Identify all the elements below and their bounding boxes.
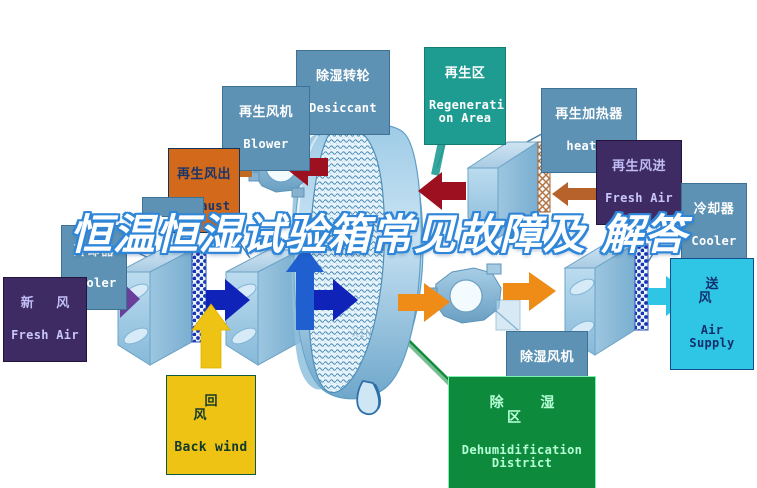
callout-air-supply-cn: 送 风	[675, 278, 749, 306]
callout-cooler-right-cn: 冷却器	[686, 203, 742, 217]
callout-cooler-right: 冷却器 Cooler	[681, 183, 747, 268]
callout-dehumidification-district-en: Dehumidification District	[453, 444, 591, 470]
callout-back-wind: 回 风 Back wind	[166, 375, 256, 475]
callout-cooler-mid-cn: 冷却器	[147, 217, 199, 231]
schematic-image: XIN	[0, 0, 757, 488]
callout-cooler-right-en: Cooler	[686, 235, 742, 248]
regeneration-heater-coil	[468, 142, 550, 238]
callout-cooler-left-cn: 冷却器	[66, 245, 122, 259]
callout-fresh-air-inlet: 新 风 Fresh Air	[3, 277, 87, 362]
flow-arrow-regen-hot-to-rotor	[418, 172, 466, 210]
svg-text:XIN: XIN	[352, 327, 372, 340]
cooler-coil-1	[118, 250, 206, 365]
callout-air-supply: 送 风 Air Supply	[670, 258, 754, 370]
callout-back-wind-en: Back wind	[171, 441, 251, 455]
callout-back-wind-cn: 回 风	[171, 395, 251, 423]
callout-fresh-air-inlet-cn: 新 风	[8, 297, 82, 311]
callout-regeneration-fresh-air-en: Fresh Air	[601, 192, 677, 205]
callout-desiccant-rotor-en: Desiccant	[301, 102, 385, 115]
callout-regeneration-fresh-air-cn: 再生风进	[601, 160, 677, 174]
callout-air-supply-en: Air Supply	[675, 324, 749, 350]
callout-desiccant-rotor: 除湿转轮 Desiccant	[296, 50, 390, 135]
callout-regeneration-area-cn: 再生区	[429, 67, 501, 81]
callout-dehumidification-district-cn: 除 湿 区	[453, 396, 591, 426]
callout-dehumidification-district: 除 湿 区 Dehumidification District	[448, 376, 596, 488]
callout-cooler-mid: 冷却器	[142, 197, 204, 217]
callout-regeneration-area: 再生区 Regenerati on Area	[424, 47, 506, 145]
callout-fresh-air-inlet-en: Fresh Air	[8, 329, 82, 342]
callout-regeneration-fresh-air: 再生风进 Fresh Air	[596, 140, 682, 225]
water-drop-icon	[357, 381, 380, 414]
callout-exhaust-cn: 再生风出	[173, 168, 235, 182]
callout-regeneration-heater-cn: 再生加热器	[546, 108, 632, 122]
callout-desiccant-rotor-cn: 除湿转轮	[301, 70, 385, 84]
callout-dehumidification-blower-cn: 除湿风机	[511, 351, 583, 365]
callout-regeneration-area-en: Regenerati on Area	[429, 99, 501, 125]
callout-regeneration-blower-cn: 再生风机	[227, 106, 305, 120]
